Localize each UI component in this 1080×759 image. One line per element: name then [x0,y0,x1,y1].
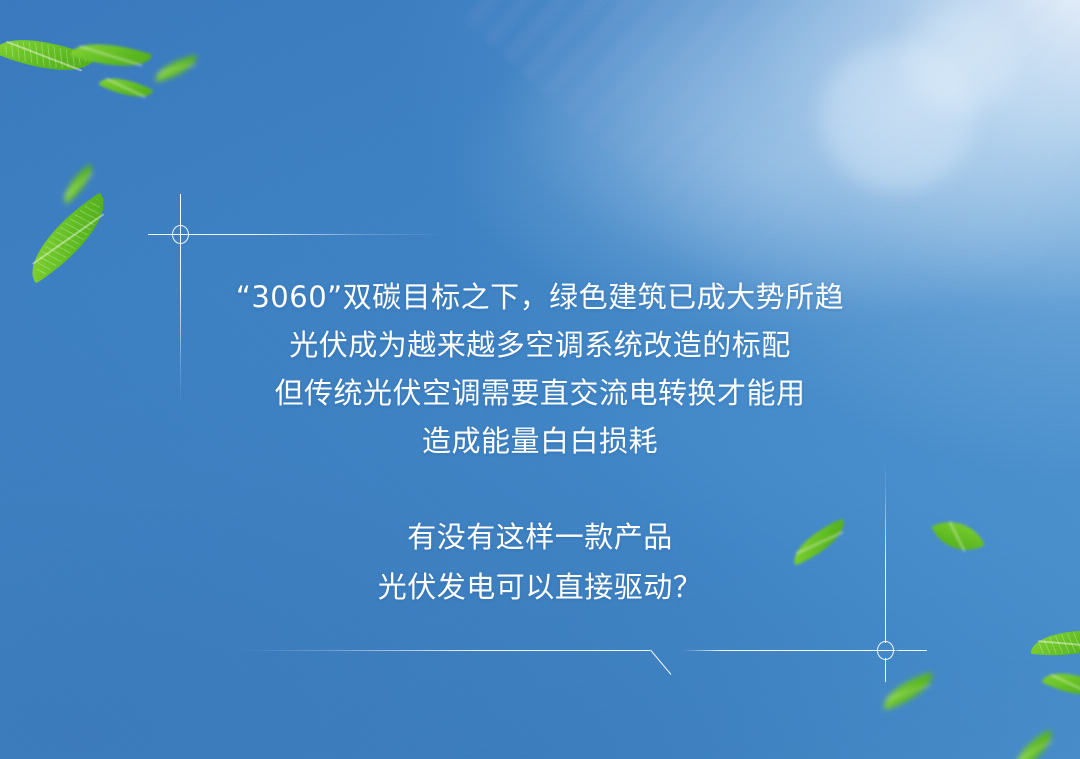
crosshair-marker-top-left [172,225,189,244]
question-line-2: 光伏发电可以直接驱动？ [0,562,1080,612]
diagonal-notch [650,650,671,675]
leaf-decoration [1042,661,1080,708]
lens-flare-rays [461,0,1080,394]
atmospheric-haze-overlay [0,0,1080,759]
leaf-decoration [70,31,152,80]
corner-shading-overlay [0,0,1080,759]
lens-flare-bokeh-disc-secondary [900,4,1020,114]
leaf-decoration [931,509,984,562]
frame-line-right-vertical [885,463,886,643]
leaf-decoration [878,672,938,710]
lens-flare-bokeh-disc [818,42,978,192]
question-line-1: 有没有这样一款产品 [0,512,1080,562]
banner-canvas: “3060”双碳目标之下，绿色建筑已成大势所趋 光伏成为越来越多空调系统改造的标… [0,0,1080,759]
headline-text-block: “3060”双碳目标之下，绿色建筑已成大势所趋 光伏成为越来越多空调系统改造的标… [0,273,1080,465]
leaf-decoration [152,55,201,83]
frame-line-left-vertical-top-stub [180,194,181,242]
headline-line-1: “3060”双碳目标之下，绿色建筑已成大势所趋 [0,273,1080,321]
leaf-decoration [786,518,852,565]
leaf-decoration [14,192,123,283]
question-text-block: 有没有这样一款产品 光伏发电可以直接驱动？ [0,512,1080,612]
headline-line-4: 造成能量白白损耗 [0,417,1080,465]
crosshair-marker-bottom-right [877,641,894,660]
frame-line-bottom-horizontal-right [683,650,895,651]
paper-grain-texture [0,0,1080,759]
leaf-decoration [0,21,95,88]
leaf-decoration [98,68,153,108]
frame-line-right-vertical-bottom-stub [885,658,886,682]
sun-glow-overlay [0,0,1080,759]
frame-line-bottom-horizontal-left [240,650,650,651]
leaf-decoration [1008,729,1060,759]
leaf-decoration [1031,624,1080,662]
frame-line-top-horizontal [148,234,448,235]
headline-line-3: 但传统光伏空调需要直交流电转换才能用 [0,369,1080,417]
headline-line-2: 光伏成为越来越多空调系统改造的标配 [0,321,1080,369]
frame-line-bottom-right-horizontal-stub [893,650,927,651]
frame-line-top-horizontal-left-stub [148,234,186,235]
frame-line-left-vertical [180,194,181,404]
sky-gradient-background [0,0,1080,759]
leaf-decoration [56,164,100,205]
